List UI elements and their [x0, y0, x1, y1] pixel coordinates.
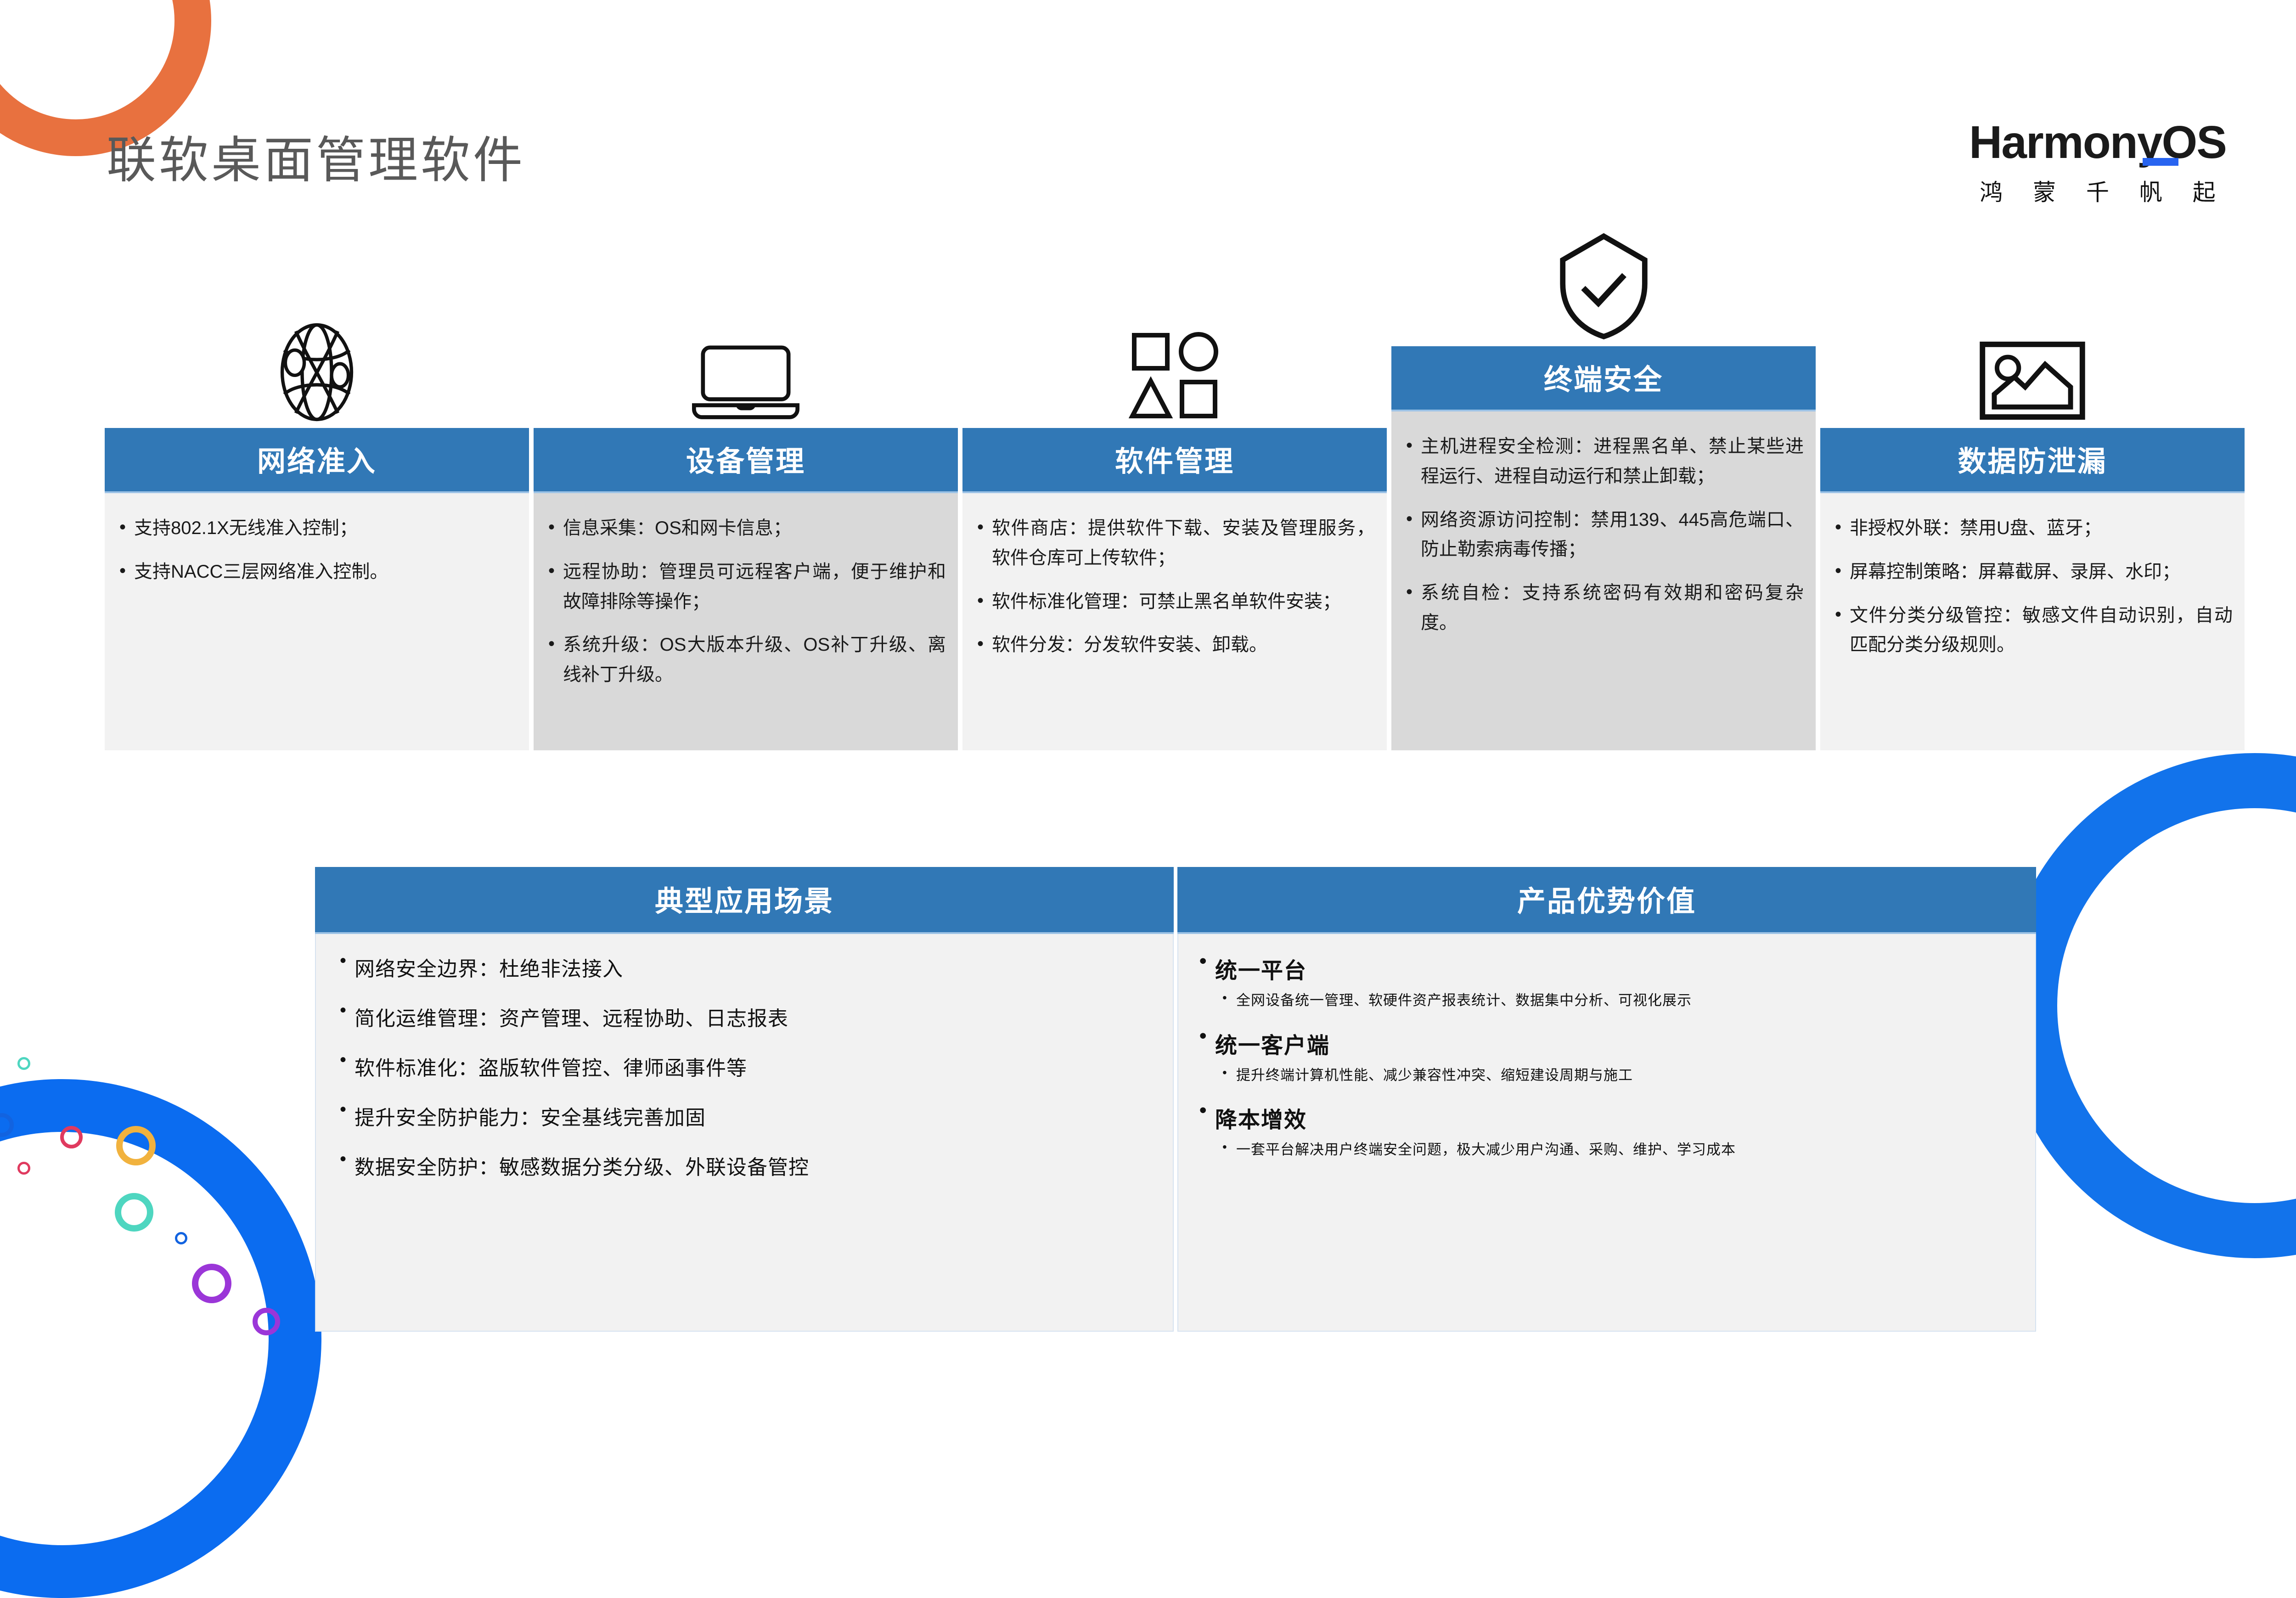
value-group-detail: 提升终端计算机性能、减少兼容性冲突、缩短建设周期与施工 [1199, 1065, 2014, 1086]
feature-column-device-management: 设备管理 信息采集：OS和网卡信息； 远程协助：管理员可远程客户端，便于维护和故… [534, 284, 958, 750]
globe-network-icon [105, 284, 529, 428]
list-item: 简化运维管理：资产管理、远程协助、日志报表 [337, 1002, 1152, 1031]
feature-bullet: 非授权外联：禁用U盘、蓝牙； [1834, 513, 2233, 543]
feature-bullet: 网络资源访问控制：禁用139、445高危端口、防止勒索病毒传播； [1405, 505, 1804, 565]
decorative-ring-pink [60, 1126, 83, 1148]
value-group: 统一平台 全网设备统一管理、软硬件资产报表统计、数据集中分析、可视化展示 [1199, 952, 2014, 1012]
harmonyos-wordmark-harmony: Harmony [1969, 117, 2161, 168]
decorative-ring-purple-small [253, 1308, 280, 1335]
page-title: 联软桌面管理软件 [107, 120, 525, 192]
decorative-ring-blue-left [0, 1113, 14, 1137]
feature-column-data-leak-prevention: 数据防泄漏 非授权外联：禁用U盘、蓝牙； 屏幕控制策略：屏幕截屏、录屏、水印； … [1820, 284, 2245, 750]
image-picture-icon [1820, 284, 2245, 428]
feature-column-title: 网络准入 [105, 428, 529, 493]
feature-column-software-management: 软件管理 软件商店：提供软件下载、安装及管理服务，软件仓库可上传软件； 软件标准… [962, 284, 1387, 750]
feature-column-body: 软件商店：提供软件下载、安装及管理服务，软件仓库可上传软件； 软件标准化管理：可… [962, 493, 1387, 750]
feature-column-body: 信息采集：OS和网卡信息； 远程协助：管理员可远程客户端，便于维护和故障排除等操… [534, 493, 958, 750]
feature-bullet: 软件标准化管理：可禁止黑名单软件安装； [976, 587, 1375, 617]
decorative-ring-purple [192, 1264, 231, 1303]
list-item: 提升安全防护能力：安全基线完善加固 [337, 1101, 1152, 1131]
feature-bullet: 系统升级：OS大版本升级、OS补丁升级、离线补丁升级。 [547, 630, 946, 690]
feature-bullet: 系统自检：支持系统密码有效期和密码复杂度。 [1405, 578, 1804, 638]
decorative-ring-blue-small [175, 1232, 187, 1244]
panel-product-value: 产品优势价值 统一平台 全网设备统一管理、软硬件资产报表统计、数据集中分析、可视… [1177, 867, 2036, 1332]
harmonyos-accent-underline [2143, 158, 2178, 166]
harmonyos-wordmark: HarmonyOS [1969, 118, 2226, 167]
value-group-title: 统一客户端 [1199, 1027, 2014, 1059]
list-item: 数据安全防护：敏感数据分类分级、外联设备管控 [337, 1151, 1152, 1180]
shapes-icon [962, 284, 1387, 428]
feature-bullet: 支持802.1X无线准入控制； [118, 513, 517, 543]
value-group-title: 降本增效 [1199, 1102, 2014, 1134]
feature-column-title: 设备管理 [534, 428, 958, 493]
value-group: 降本增效 一套平台解决用户终端安全问题，极大减少用户沟通、采购、维护、学习成本 [1199, 1102, 2014, 1161]
feature-bullet: 主机进程安全检测：进程黑名单、禁止某些进程运行、进程自动运行和禁止卸载； [1405, 432, 1804, 491]
list-item: 网络安全边界：杜绝非法接入 [337, 952, 1152, 982]
feature-bullet: 远程协助：管理员可远程客户端，便于维护和故障排除等操作； [547, 557, 946, 617]
feature-bullet: 屏幕控制策略：屏幕截屏、录屏、水印； [1834, 557, 2233, 587]
value-group-detail: 全网设备统一管理、软硬件资产报表统计、数据集中分析、可视化展示 [1199, 990, 2014, 1012]
feature-column-body: 非授权外联：禁用U盘、蓝牙； 屏幕控制策略：屏幕截屏、录屏、水印； 文件分类分级… [1820, 493, 2245, 750]
feature-column-title: 软件管理 [962, 428, 1387, 493]
feature-columns: 网络准入 支持802.1X无线准入控制； 支持NACC三层网络准入控制。 设备管… [105, 202, 2245, 750]
panel-body: 网络安全边界：杜绝非法接入 简化运维管理：资产管理、远程协助、日志报表 软件标准… [315, 934, 1174, 1332]
value-group-detail: 一套平台解决用户终端安全问题，极大减少用户沟通、采购、维护、学习成本 [1199, 1139, 2014, 1161]
value-group-title: 统一平台 [1199, 952, 2014, 985]
feature-column-body: 支持802.1X无线准入控制； 支持NACC三层网络准入控制。 [105, 493, 529, 750]
bottom-panels: 典型应用场景 网络安全边界：杜绝非法接入 简化运维管理：资产管理、远程协助、日志… [315, 867, 2036, 1332]
shield-check-icon [1391, 202, 1816, 346]
decorative-blue-arc-right [2002, 753, 2296, 1258]
decorative-blue-arc-left [0, 1079, 321, 1598]
panel-typical-scenarios: 典型应用场景 网络安全边界：杜绝非法接入 简化运维管理：资产管理、远程协助、日志… [315, 867, 1174, 1332]
decorative-ring-pink-small [17, 1162, 30, 1175]
panel-title: 典型应用场景 [315, 867, 1174, 934]
panel-title: 产品优势价值 [1177, 867, 2036, 934]
harmonyos-logo: HarmonyOS 鸿 蒙 千 帆 起 [1951, 118, 2245, 207]
feature-column-endpoint-security: 终端安全 主机进程安全检测：进程黑名单、禁止某些进程运行、进程自动运行和禁止卸载… [1391, 202, 1816, 750]
feature-column-body: 主机进程安全检测：进程黑名单、禁止某些进程运行、进程自动运行和禁止卸载； 网络资… [1391, 411, 1816, 750]
decorative-ring-teal [115, 1193, 153, 1232]
decorative-ring-yellow [116, 1126, 156, 1165]
feature-column-title: 终端安全 [1391, 346, 1816, 411]
feature-bullet: 文件分类分级管控：敏感文件自动识别，自动匹配分类分级规则。 [1834, 601, 2233, 660]
feature-bullet: 软件商店：提供软件下载、安装及管理服务，软件仓库可上传软件； [976, 513, 1375, 573]
feature-bullet: 信息采集：OS和网卡信息； [547, 513, 946, 543]
feature-bullet: 软件分发：分发软件安装、卸载。 [976, 630, 1375, 660]
list-item: 软件标准化：盗版软件管控、律师函事件等 [337, 1052, 1152, 1081]
feature-column-network-access: 网络准入 支持802.1X无线准入控制； 支持NACC三层网络准入控制。 [105, 284, 529, 750]
decorative-ring-teal-small [17, 1057, 30, 1070]
laptop-icon [534, 284, 958, 428]
feature-bullet: 支持NACC三层网络准入控制。 [118, 557, 517, 587]
panel-body: 统一平台 全网设备统一管理、软硬件资产报表统计、数据集中分析、可视化展示 统一客… [1177, 934, 2036, 1332]
value-group: 统一客户端 提升终端计算机性能、减少兼容性冲突、缩短建设周期与施工 [1199, 1027, 2014, 1086]
feature-column-title: 数据防泄漏 [1820, 428, 2245, 493]
